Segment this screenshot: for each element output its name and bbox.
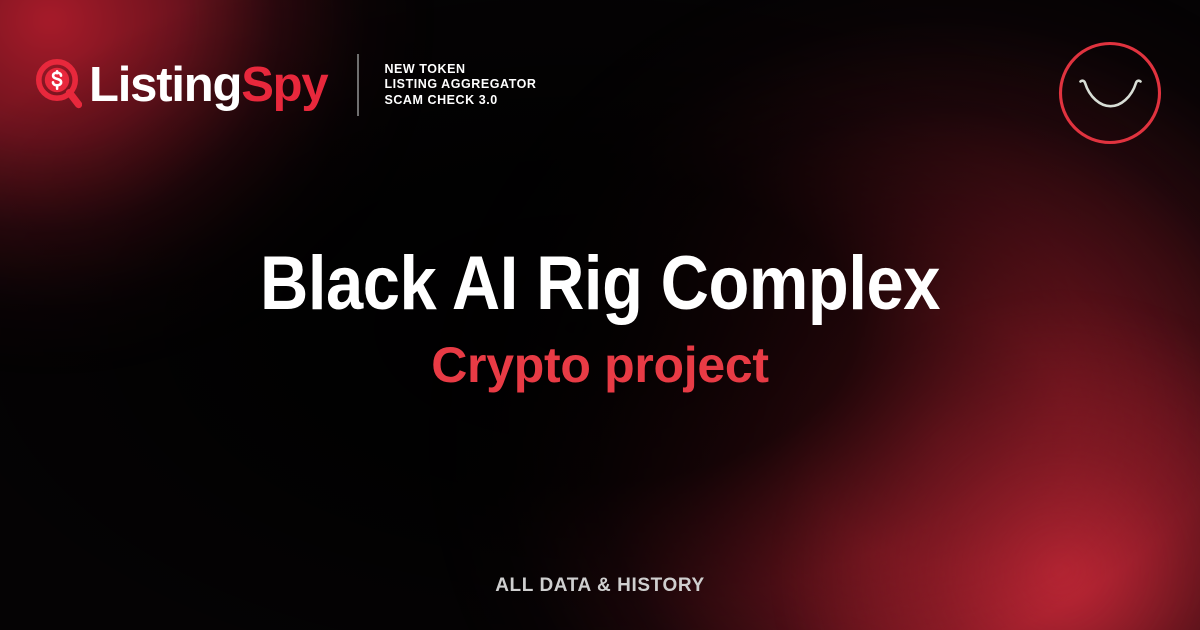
tagline-line-1: NEW TOKEN [384, 62, 536, 78]
headline-block: Black AI Rig Complex Crypto project [0, 243, 1200, 393]
brand-wordmark: ListingSpy [89, 61, 327, 110]
wordmark-accent: Spy [241, 58, 327, 112]
brand-tagline: NEW TOKEN LISTING AGGREGATOR SCAM CHECK … [384, 62, 536, 109]
wordmark-primary: Listing [89, 58, 241, 112]
footer-caption: ALL DATA & HISTORY [0, 575, 1200, 597]
tagline-line-3: SCAM CHECK 3.0 [384, 93, 536, 109]
brand-header[interactable]: ListingSpy NEW TOKEN LISTING AGGREGATOR … [36, 54, 537, 116]
tagline-line-2: LISTING AGGREGATOR [384, 77, 536, 93]
social-share-card: ListingSpy NEW TOKEN LISTING AGGREGATOR … [0, 0, 1200, 630]
page-subtitle: Crypto project [60, 337, 1140, 393]
smile-circle-icon[interactable] [1057, 40, 1163, 146]
page-title: Black AI Rig Complex [125, 243, 1075, 325]
magnifier-dollar-icon [36, 59, 82, 111]
header-divider [357, 54, 359, 116]
